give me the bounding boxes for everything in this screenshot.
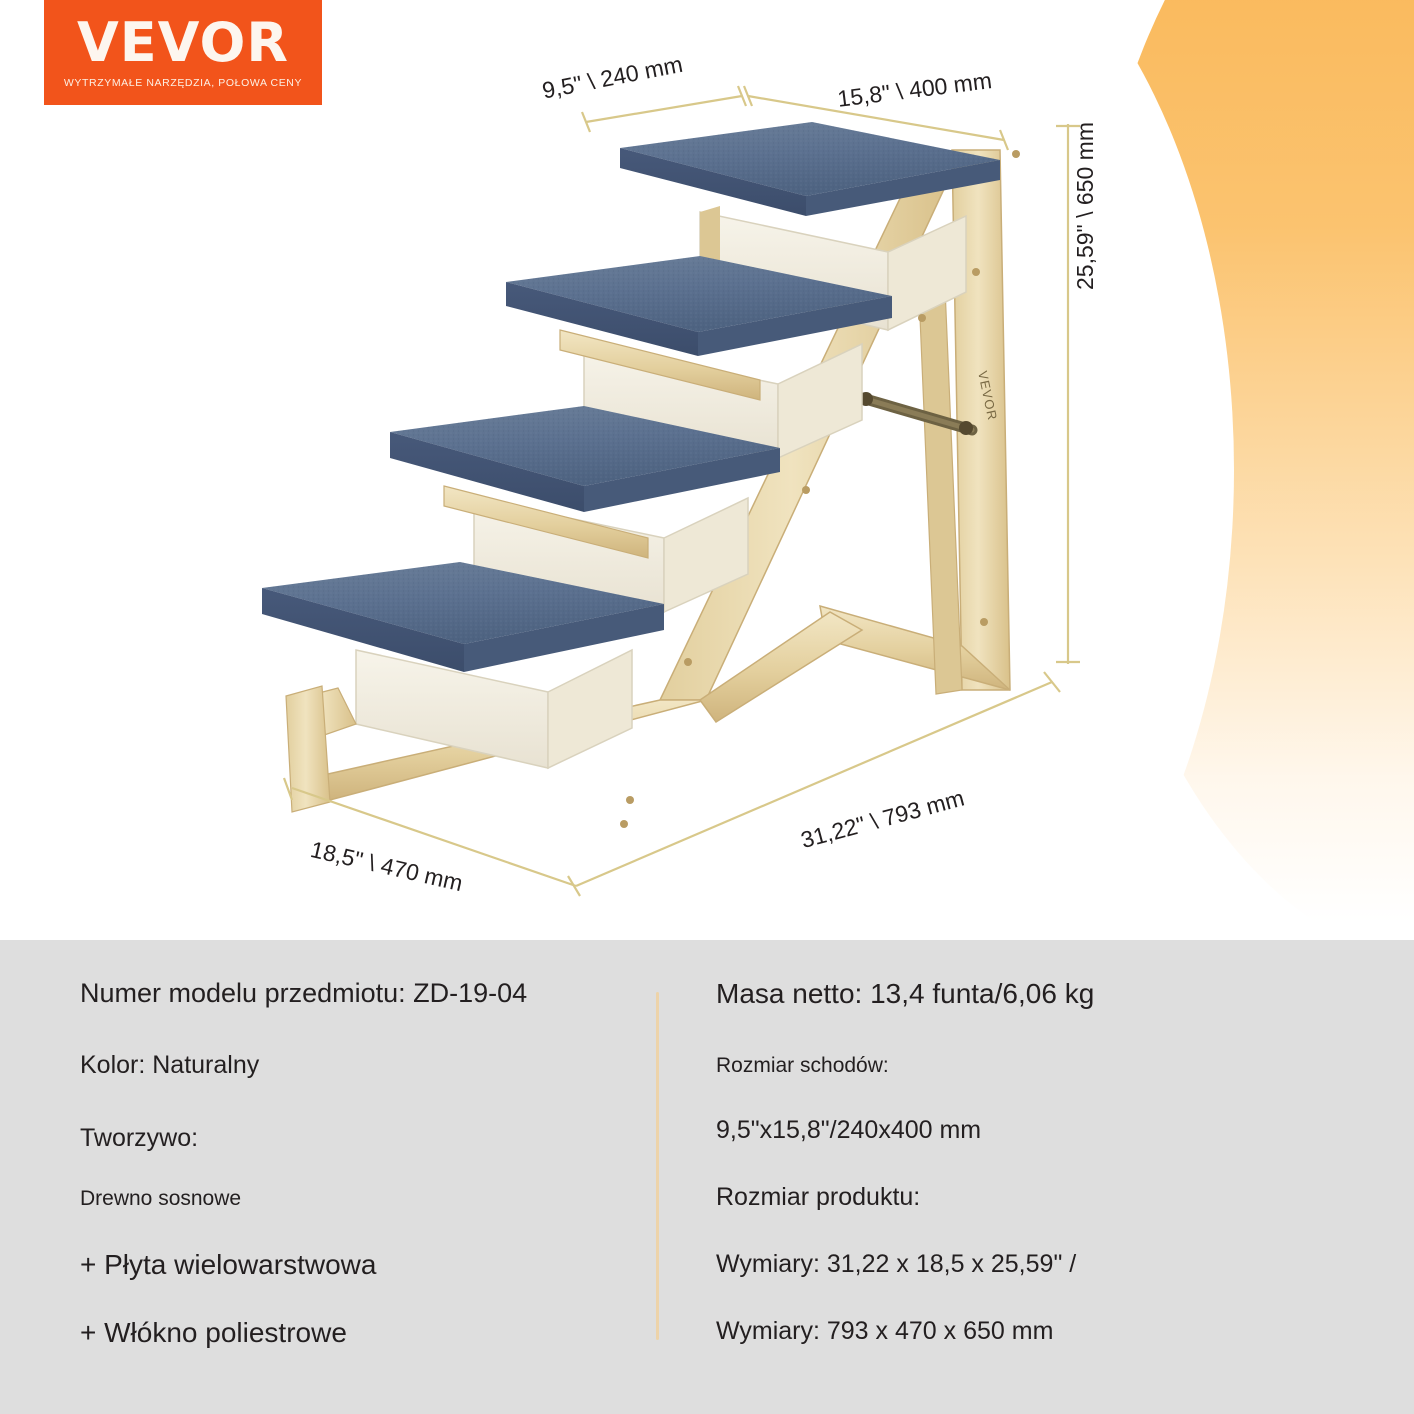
spec-product-size-label: Rozmiar produktu: [716,1183,1276,1212]
hero-section: VEVOR [0,0,1414,940]
spec-dimensions-mm: Wymiary: 793 x 470 x 650 mm [716,1317,1276,1346]
infographic-root: VEVOR [0,0,1414,1414]
logo-tagline: WYTRZYMAŁE NARZĘDZIA, POŁOWA CENY [64,77,302,89]
column-divider [656,992,659,1340]
spec-stair-size-value: 9,5"x15,8"/240x400 mm [716,1116,1276,1145]
spec-dimensions-inch: Wymiary: 31,22 x 18,5 x 25,59" / [716,1250,1276,1279]
spec-column-left: Numer modelu przedmiotu: ZD-19-04 Kolor:… [80,978,620,1349]
vevor-logo: VEVOR WYTRZYMAŁE NARZĘDZIA, POŁOWA CENY [44,0,322,105]
spec-material-polyester: + Włókno poliestrowe [80,1317,620,1349]
spec-net-weight: Masa netto: 13,4 funta/6,06 kg [716,978,1276,1010]
spec-material-label: Tworzywo: [80,1124,620,1153]
spec-model-number: Numer modelu przedmiotu: ZD-19-04 [80,978,620,1009]
logo-wordmark: VEVOR [77,16,289,70]
specification-panel: Numer modelu przedmiotu: ZD-19-04 Kolor:… [0,940,1414,1414]
spec-material-wood: Drewno sosnowe [80,1187,620,1211]
dimension-height: 25,59" \ 650 mm [1072,122,1099,290]
spec-color: Kolor: Naturalny [80,1051,620,1080]
product-illustration: VEVOR [0,0,1414,940]
spec-stair-size-label: Rozmiar schodów: [716,1054,1276,1078]
spec-column-right: Masa netto: 13,4 funta/6,06 kg Rozmiar s… [716,978,1276,1346]
spec-material-plywood: + Płyta wielowarstwowa [80,1249,620,1281]
